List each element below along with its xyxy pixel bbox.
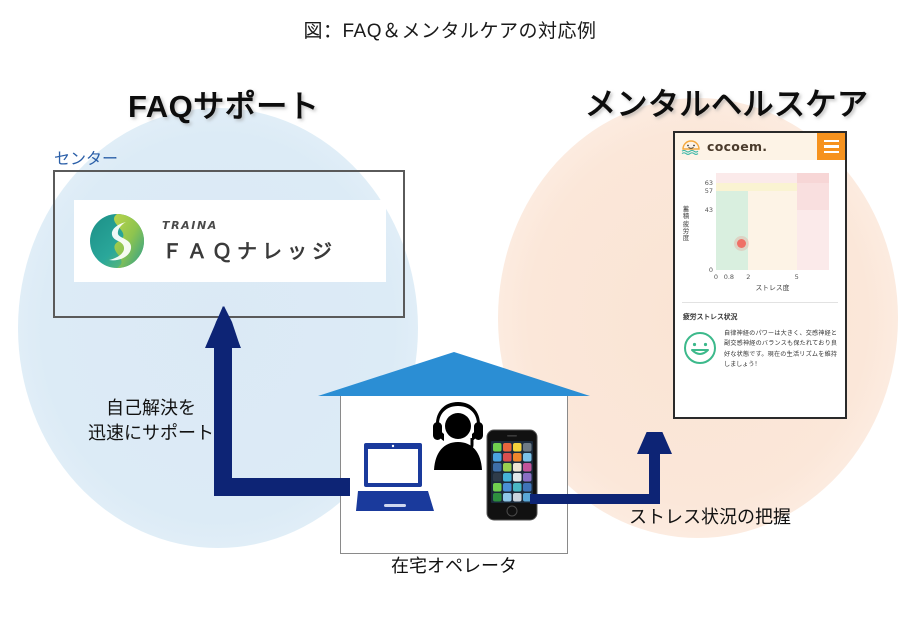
diagram-canvas: 図：FAQ＆メンタルケアの対応例 FAQサポート メンタルヘルスケア センター: [0, 0, 900, 620]
status-card-message: 自律神経のパワーは大きく、交感神経と副交感神経のバランスも保たれており良好な状態…: [724, 329, 837, 371]
chart-x-tick: 0: [714, 273, 718, 281]
heat-zone-danger-pink-right: [797, 210, 829, 270]
faq-section-heading: FAQサポート: [128, 81, 319, 126]
hamburger-menu-icon[interactable]: [817, 133, 845, 160]
chart-plot-area: 635743000.825: [716, 173, 829, 270]
heat-zone-caution-yellow: [716, 183, 797, 191]
house-roof-icon: [318, 352, 590, 398]
chart-y-tick: 63: [705, 179, 713, 187]
heat-zone-danger-red-corner: [797, 173, 829, 183]
faq-arrow-caption: 自己解決を 迅速にサポート: [88, 396, 214, 446]
traina-brand-text: TRAINA: [162, 219, 337, 232]
faq-arrow-caption-line1: 自己解決を: [88, 396, 214, 421]
heat-zone-danger-pink-right-upper: [797, 183, 829, 211]
heat-zone-warning-pink-top: [716, 173, 797, 183]
chart-y-tick: 43: [705, 206, 713, 214]
operator-label: 在宅オペレータ: [318, 552, 590, 578]
traina-s-mark-icon: [88, 212, 146, 270]
heat-zone-safe-green: [716, 191, 748, 270]
chart-x-tick: 5: [795, 273, 799, 281]
traina-logo-box: TRAINA ＦＡＱナレッジ: [74, 200, 386, 282]
status-card: 疲労ストレス状況 自律神経のパワーは大きく、交感神経と副交感神経のバランスも保た…: [675, 303, 845, 417]
center-panel-label: センター: [54, 145, 118, 169]
laptop-icon: [356, 439, 434, 521]
chart-x-tick: 0.8: [724, 273, 734, 281]
chart-y-tick: 57: [705, 187, 713, 195]
mental-arrow-caption: ストレス状況の把握: [629, 505, 791, 530]
faq-arrow-caption-line2: 迅速にサポート: [88, 421, 214, 446]
mental-section-heading: メンタルヘルスケア: [585, 79, 869, 124]
faq-flow-arrow: [190, 306, 350, 506]
headset-operator-icon: [430, 400, 486, 478]
chart-y-tick: 0: [709, 266, 713, 274]
traina-wordmark: TRAINA ＦＡＱナレッジ: [162, 219, 337, 264]
status-card-row: 自律神経のパワーは大きく、交感神経と副交感神経のバランスも保たれており良好な状態…: [683, 329, 837, 371]
cocoem-smiley-sun-icon: [681, 138, 701, 156]
app-name-text: cocoem.: [707, 139, 767, 154]
app-header: cocoem.: [675, 133, 845, 160]
status-card-title: 疲労ストレス状況: [683, 311, 837, 321]
chart-x-axis-label: ストレス度: [716, 282, 829, 292]
mobile-app-mockup: cocoem. 蓄積疲労度 635743000.825 ストレス度 疲労ストレス…: [673, 131, 847, 419]
heat-zone-warning-cream-right: [748, 191, 796, 270]
chart-y-axis-label: 蓄積疲労度: [681, 206, 691, 242]
page-title: 図：FAQ＆メンタルケアの対応例: [0, 16, 900, 43]
traina-product-text: ＦＡＱナレッジ: [162, 235, 337, 264]
stress-fatigue-chart: 蓄積疲労度 635743000.825 ストレス度: [675, 160, 845, 302]
chart-x-tick: 2: [746, 273, 750, 281]
smiley-face-icon: [683, 331, 717, 365]
